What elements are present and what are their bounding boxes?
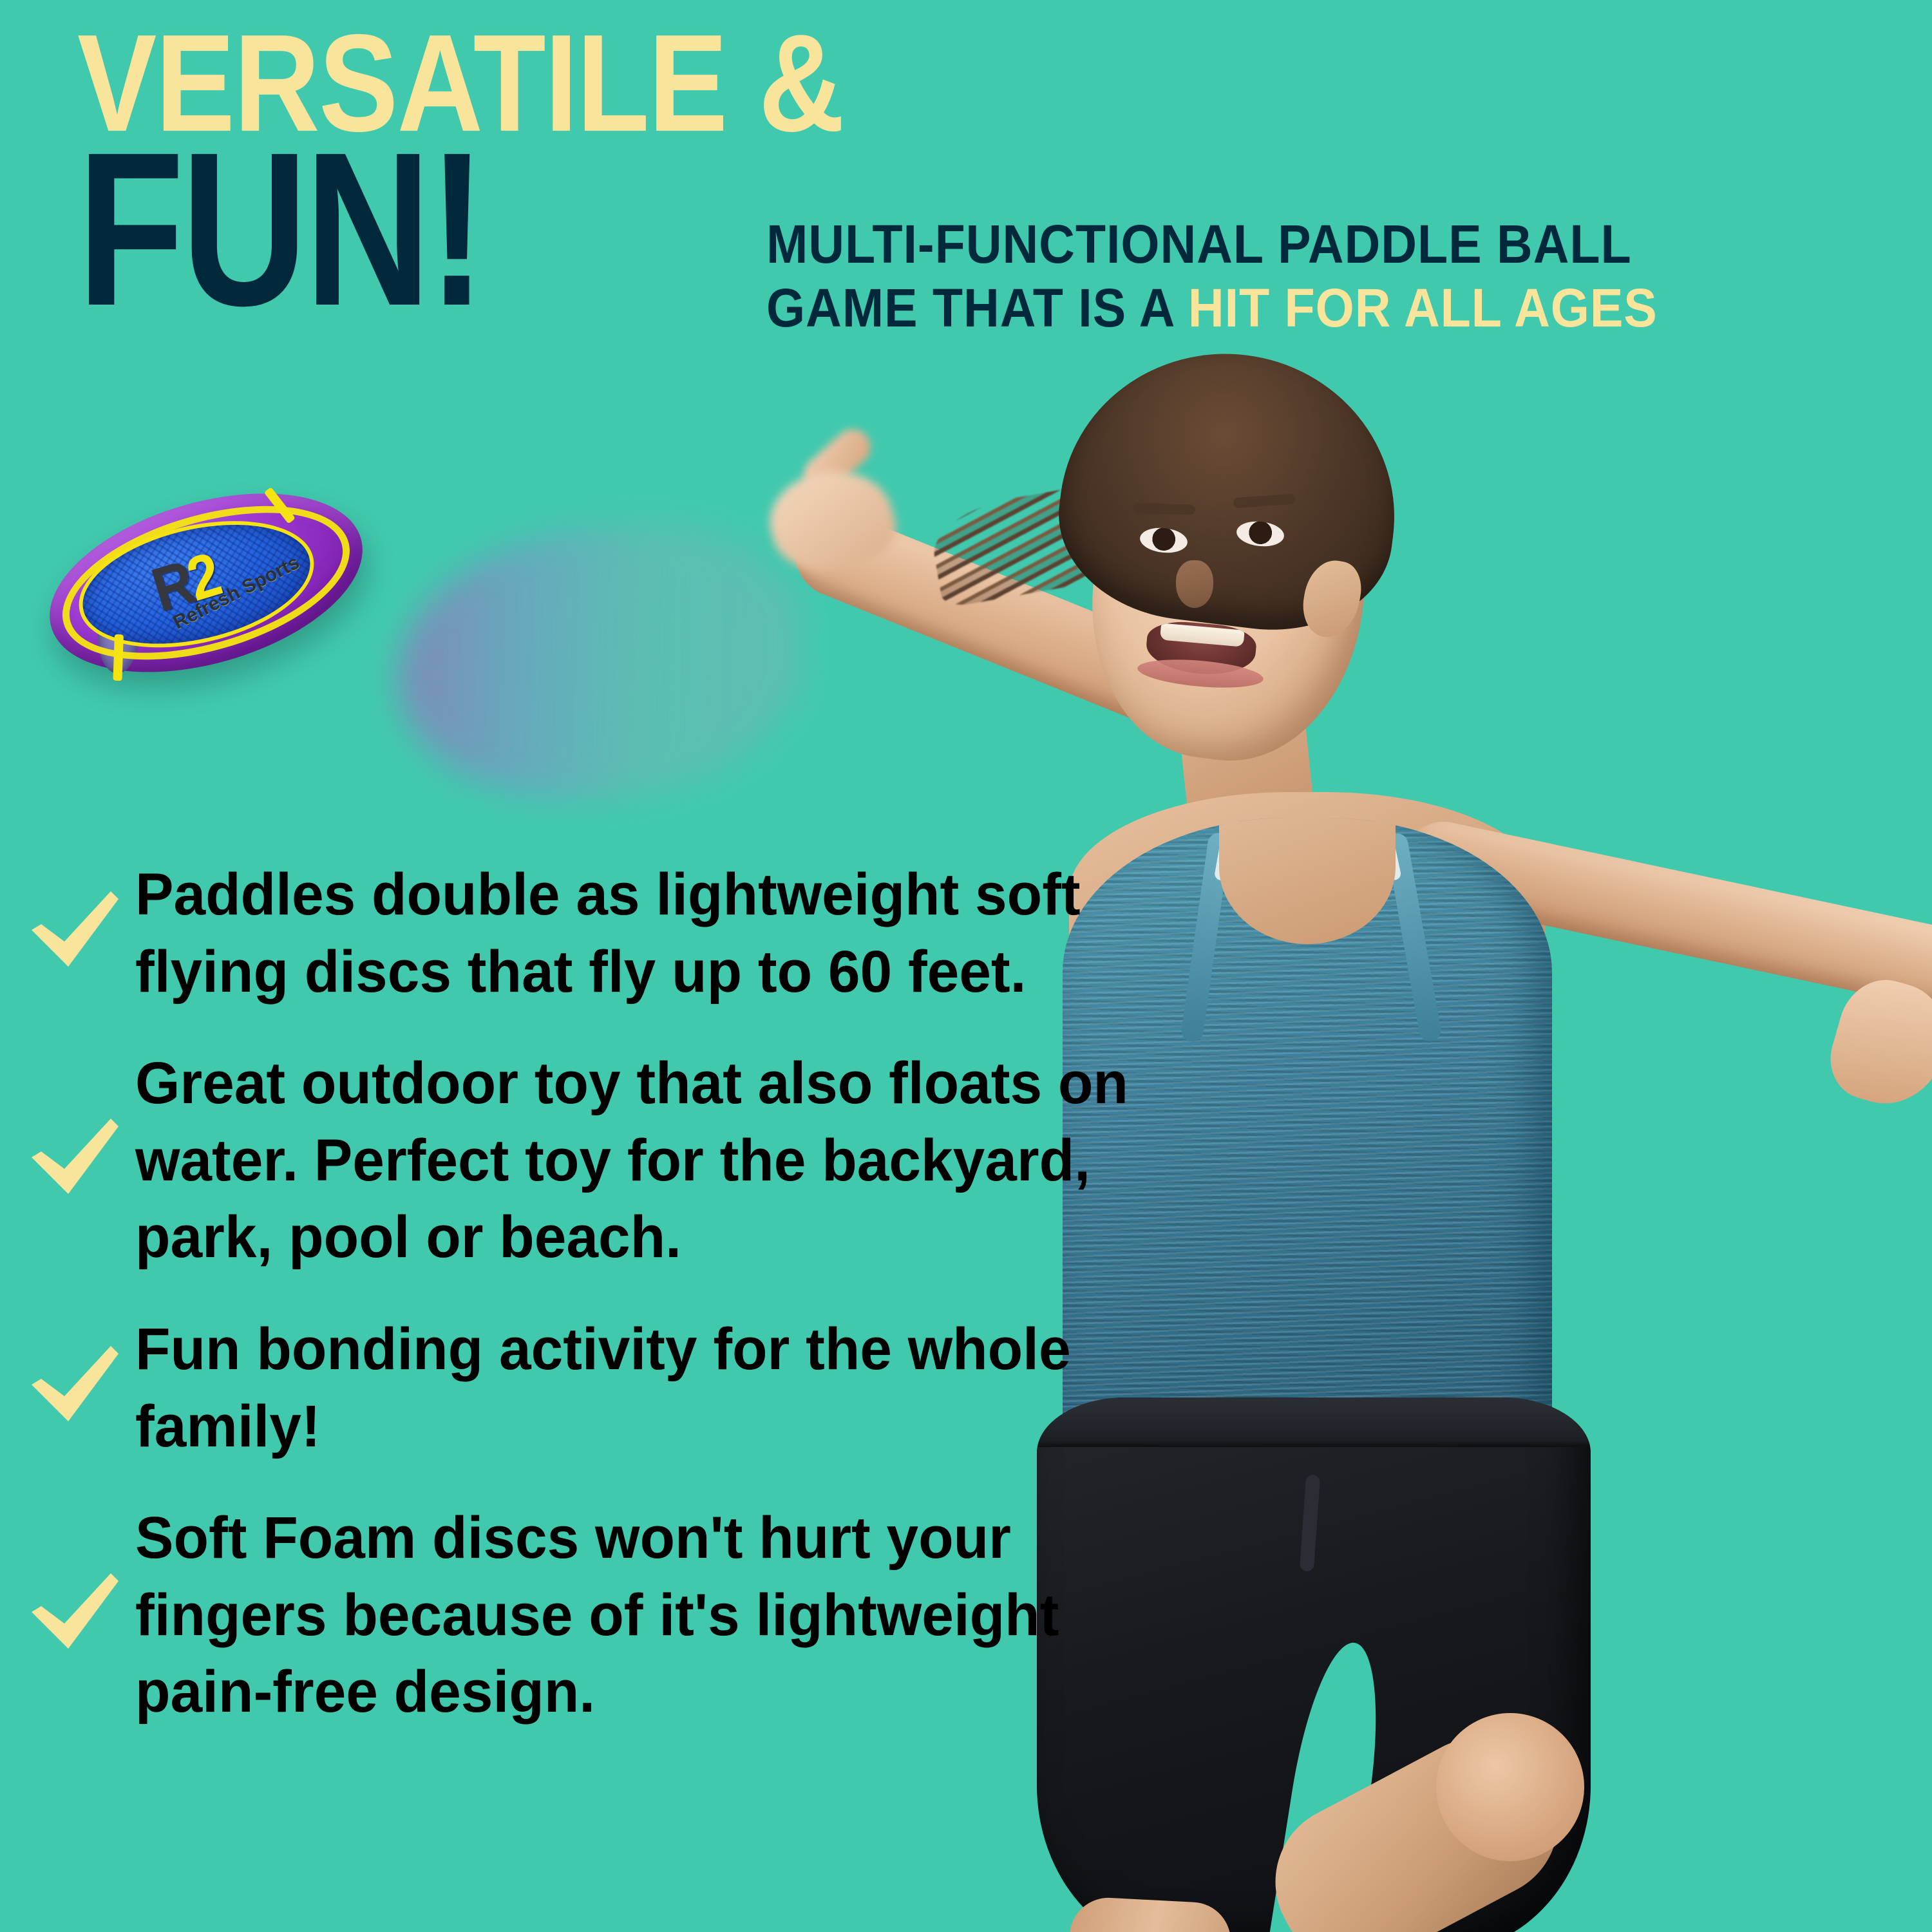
list-item: Fun bonding activity for the whole famil… bbox=[0, 1311, 1224, 1465]
knee bbox=[1436, 1713, 1584, 1861]
feature-bullet-list: Paddles double as lightweight soft flyin… bbox=[0, 857, 1224, 1766]
bullet-text: Soft Foam discs won't hurt your fingers … bbox=[135, 1500, 1160, 1731]
headline-line-2: FUN! bbox=[77, 135, 721, 323]
subheading-line-1: MULTI-FUNCTIONAL PADDLE BALL bbox=[766, 213, 1809, 276]
shorts-drawstring bbox=[1300, 1475, 1320, 1572]
product-marketing-banner: VERSATILE & FUN! MULTI-FUNCTIONAL PADDLE… bbox=[0, 0, 1932, 1932]
checkmark-icon bbox=[26, 885, 122, 982]
list-item: Soft Foam discs won't hurt your fingers … bbox=[0, 1500, 1224, 1731]
list-item: Great outdoor toy that also floats on wa… bbox=[0, 1045, 1224, 1276]
checkmark-icon bbox=[26, 1567, 122, 1664]
checkmark-icon bbox=[26, 1340, 122, 1437]
disc-seam bbox=[113, 634, 124, 681]
eyebrow-left bbox=[1133, 502, 1196, 515]
list-item: Paddles double as lightweight soft flyin… bbox=[0, 857, 1224, 1010]
checkmark-icon bbox=[26, 1113, 122, 1209]
nose bbox=[1176, 560, 1213, 608]
headline-block: VERSATILE & FUN! bbox=[77, 19, 882, 323]
tank-neckline bbox=[1219, 818, 1396, 944]
bullet-text: Paddles double as lightweight soft flyin… bbox=[135, 857, 1160, 1010]
paddle-disc: R2 Refresh Sports bbox=[29, 461, 383, 705]
right-hand bbox=[1821, 969, 1932, 1117]
motion-blur-trail bbox=[399, 514, 799, 812]
bullet-text: Fun bonding activity for the whole famil… bbox=[135, 1311, 1160, 1465]
product-image: R2 Refresh Sports bbox=[39, 489, 799, 837]
bullet-text: Great outdoor toy that also floats on wa… bbox=[135, 1045, 1160, 1276]
